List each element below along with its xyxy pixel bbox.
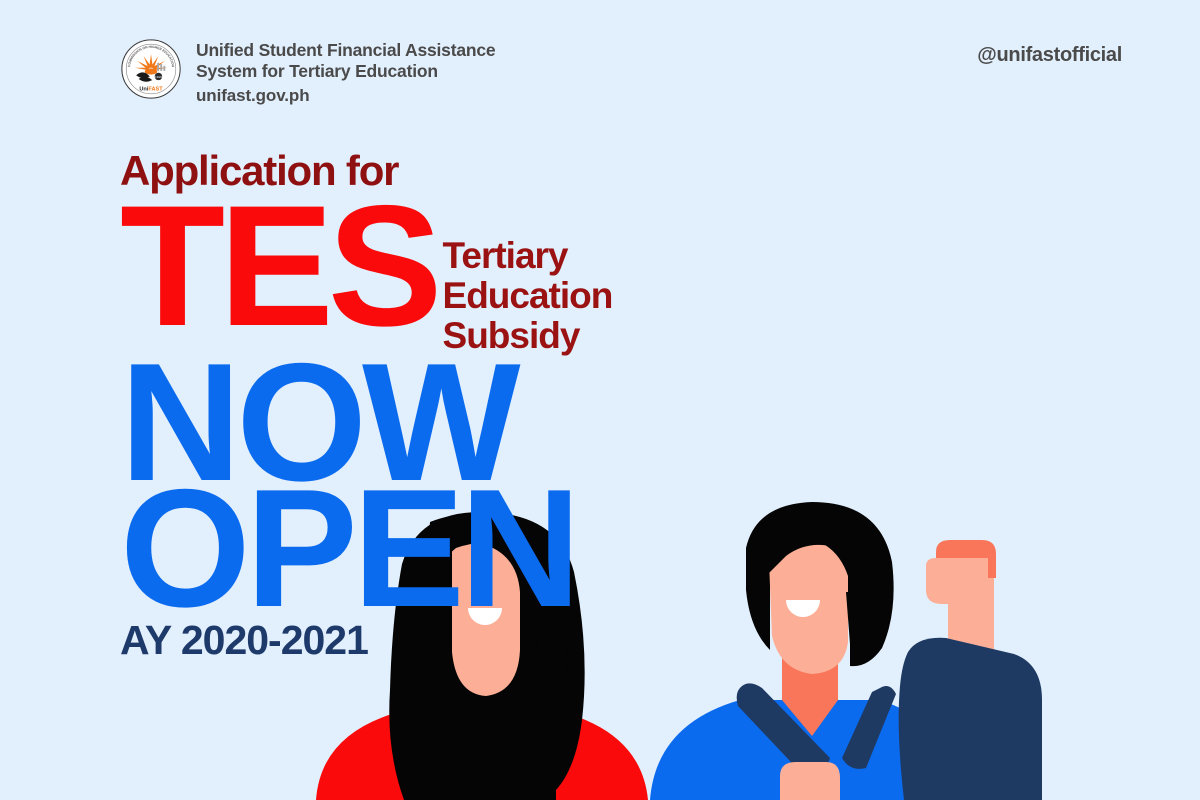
- acronym-tes: TES: [120, 196, 437, 337]
- male-student-figure: [650, 502, 1042, 800]
- expansion-line-1: Tertiary: [443, 236, 613, 276]
- unifast-seal-logo-icon: 1919 UniFAST COMMISSION ON HIGHER EDUCAT…: [120, 38, 182, 100]
- male-fist-lower: [926, 558, 988, 604]
- status-word-open: OPEN: [120, 476, 612, 620]
- social-handle[interactable]: @unifastofficial: [977, 44, 1122, 67]
- svg-text:UniFAST: UniFAST: [139, 87, 163, 93]
- org-name-line-2: System for Tertiary Education: [196, 61, 495, 82]
- svg-text:1919: 1919: [155, 75, 162, 79]
- expansion-line-2: Education: [443, 276, 613, 316]
- male-lower-fist: [780, 762, 840, 800]
- poster-canvas: 1919 UniFAST COMMISSION ON HIGHER EDUCAT…: [0, 0, 1200, 800]
- male-raised-sleeve: [899, 638, 1042, 800]
- organization-text-block: Unified Student Financial Assistance Sys…: [196, 38, 495, 108]
- headline-block: Application for TES Tertiary Education S…: [120, 150, 612, 664]
- org-name-line-1: Unified Student Financial Assistance: [196, 40, 495, 61]
- website-url[interactable]: unifast.gov.ph: [196, 83, 495, 109]
- header: 1919 UniFAST COMMISSION ON HIGHER EDUCAT…: [120, 38, 495, 108]
